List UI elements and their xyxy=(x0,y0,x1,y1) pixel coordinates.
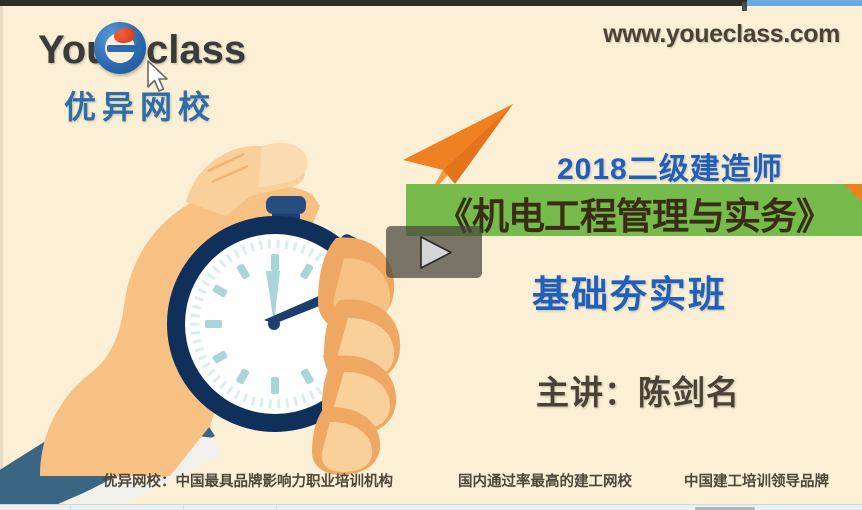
slogan-item: 优异网校：中国最具品牌影响力职业培训机构 xyxy=(103,470,393,491)
site-url-text: www.youeclass.com xyxy=(603,20,840,49)
mouse-cursor-icon xyxy=(145,60,171,94)
player-control-segment[interactable] xyxy=(71,505,184,510)
play-triangle-icon xyxy=(386,226,482,278)
lecturer-line: 主讲：陈剑名 xyxy=(536,366,740,414)
logo-e-mark xyxy=(94,22,150,78)
player-control-segment[interactable] xyxy=(0,505,71,510)
slogan-item: 国内通过率最高的建工网校 xyxy=(458,470,632,491)
player-control-segment[interactable] xyxy=(184,505,277,510)
video-player: You class 优异网校 www.youeclass.com 2018二级建… xyxy=(0,0,862,510)
player-control-bar[interactable] xyxy=(0,504,862,510)
site-logo[interactable]: You class 优异网校 xyxy=(34,20,254,120)
slogan-item: 中国建工培训领导品牌 xyxy=(684,470,829,491)
play-button[interactable] xyxy=(386,226,482,278)
course-subtitle: 基础夯实班 xyxy=(532,264,727,318)
progress-played xyxy=(0,0,747,6)
course-year-line: 2018二级建造师 xyxy=(557,144,783,188)
logo-e-crossbar xyxy=(107,45,141,52)
logo-word-class: class xyxy=(146,28,366,73)
paper-plane-icon xyxy=(385,98,517,198)
logo-chinese-name: 优异网校 xyxy=(64,82,216,128)
video-progress-bar[interactable] xyxy=(0,0,862,6)
progress-buffered xyxy=(747,0,862,6)
slogan-row: 优异网校：中国最具品牌影响力职业培训机构 国内通过率最高的建工网校 中国建工培训… xyxy=(0,470,862,496)
progress-scrubber-handle[interactable] xyxy=(742,2,747,11)
